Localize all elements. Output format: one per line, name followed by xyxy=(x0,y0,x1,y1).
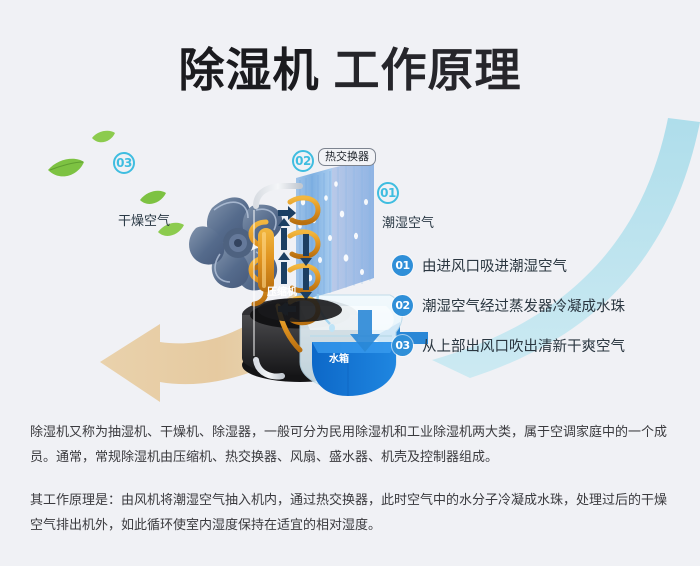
leaf-icon-1 xyxy=(48,159,84,177)
legend-item-02: 02 潮湿空气经过蒸发器冷凝成水珠 xyxy=(392,295,692,316)
compressor xyxy=(258,298,342,322)
body-paragraph-1: 除湿机又称为抽湿机、干燥机、除湿器，一般可分为民用除湿机和工业除湿机两大类，属于… xyxy=(30,420,675,470)
body-copy: 除湿机又称为抽湿机、干燥机、除湿器，一般可分为民用除湿机和工业除湿机两大类，属于… xyxy=(30,420,675,556)
leaf-icon-2 xyxy=(92,131,115,143)
badge-heat-exchanger: 02 xyxy=(292,150,314,172)
legend-badge-03: 03 xyxy=(392,335,413,356)
page-title-part2: 工作原理 xyxy=(334,43,522,97)
page-title-part1: 除湿机 xyxy=(179,43,320,97)
legend-item-01: 01 由进风口吸进潮湿空气 xyxy=(392,255,692,276)
label-water-tank: 水箱 xyxy=(329,350,349,365)
legend-list: 01 由进风口吸进潮湿空气 02 潮湿空气经过蒸发器冷凝成水珠 03 从上部出风… xyxy=(392,255,692,375)
infographic-page: 除湿机工作原理 xyxy=(0,0,700,566)
label-humid-air: 潮湿空气 xyxy=(382,212,434,231)
legend-badge-01: 01 xyxy=(392,255,413,276)
legend-text-03: 从上部出风口吹出清新干爽空气 xyxy=(422,335,625,356)
callout-heat-exchanger: 热交换器 xyxy=(318,148,376,166)
label-compressor: 压缩机 xyxy=(267,283,297,298)
label-dry-air: 干燥空气 xyxy=(118,210,170,229)
legend-text-02: 潮湿空气经过蒸发器冷凝成水珠 xyxy=(422,295,625,316)
legend-text-01: 由进风口吸进潮湿空气 xyxy=(422,255,567,276)
page-title: 除湿机工作原理 xyxy=(0,34,700,100)
legend-item-03: 03 从上部出风口吹出清新干爽空气 xyxy=(392,335,692,356)
water-tank xyxy=(312,342,396,396)
legend-badge-02: 02 xyxy=(392,295,413,316)
badge-humid-air: 01 xyxy=(377,182,399,204)
body-paragraph-2: 其工作原理是：由风机将潮湿空气抽入机内，通过热交换器，此时空气中的水分子冷凝成水… xyxy=(30,488,675,538)
badge-dry-air: 03 xyxy=(113,152,135,174)
leaf-icon-3 xyxy=(140,191,166,204)
